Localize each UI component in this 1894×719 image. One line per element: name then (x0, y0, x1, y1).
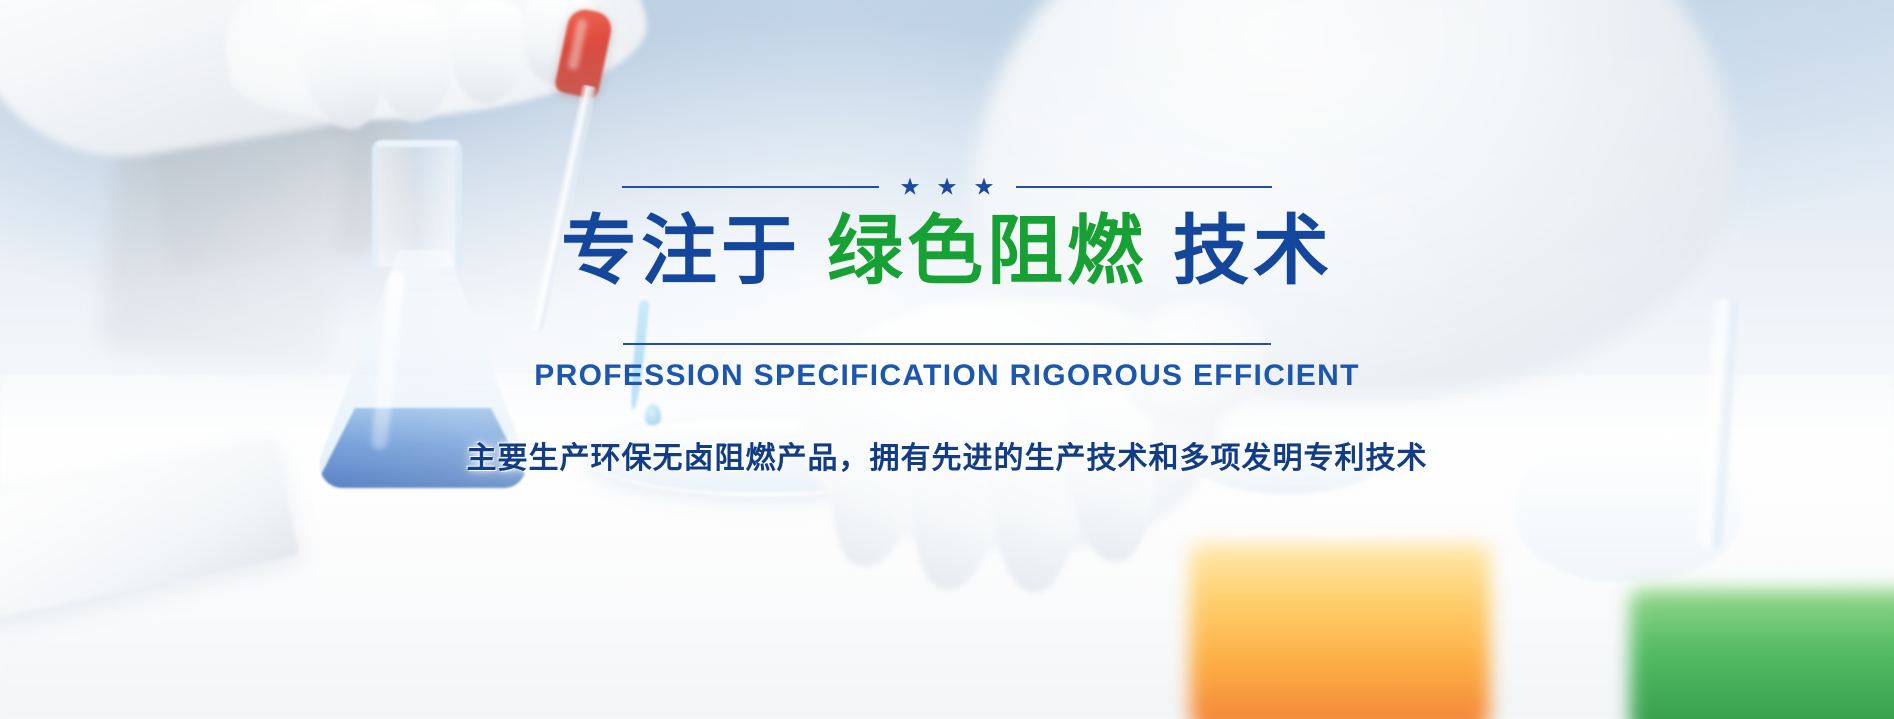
divider-rule-right (1016, 186, 1273, 188)
orange-liquid-beaker (1190, 545, 1490, 719)
bottom-divider-rule (623, 343, 1271, 345)
divider-rule-left (622, 186, 879, 188)
banner-description: 主要生产环保无卤阻燃产品，拥有先进的生产技术和多项发明专利技术 (0, 433, 1894, 477)
star-group (901, 178, 994, 197)
headline-part-3: 技术 (1173, 206, 1333, 295)
banner-subtitle: PROFESSION SPECIFICATION RIGOROUS EFFICI… (0, 359, 1894, 393)
banner-headline: 专注于绿色阻燃技术 (0, 210, 1894, 292)
star-icon (938, 178, 957, 197)
hero-banner: 专注于绿色阻燃技术 PROFESSION SPECIFICATION RIGOR… (0, 0, 1894, 719)
green-liquid-beaker (1630, 590, 1894, 719)
headline-part-1: 专注于 (561, 206, 801, 295)
banner-content: 专注于绿色阻燃技术 PROFESSION SPECIFICATION RIGOR… (0, 176, 1894, 477)
star-icon (901, 178, 920, 197)
top-divider (622, 176, 1272, 198)
headline-part-2: 绿色阻燃 (827, 206, 1147, 295)
star-icon (975, 178, 994, 197)
